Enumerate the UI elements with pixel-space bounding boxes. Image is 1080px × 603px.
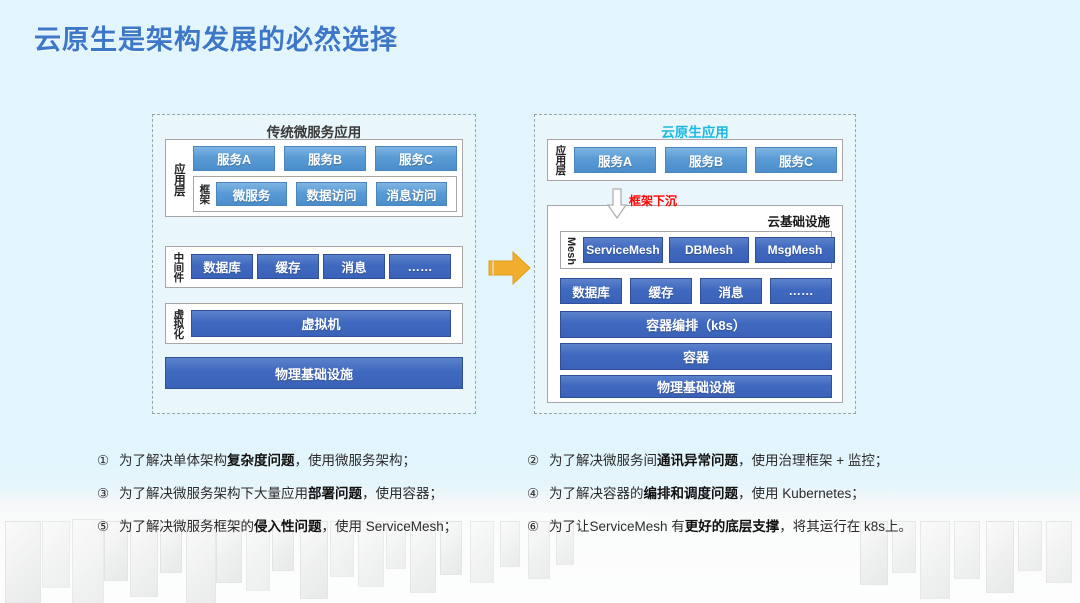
container-orchestration-chip[interactable]: 容器编排（k8s） [560,311,832,338]
list-item: ① 为了解决单体架构复杂度问题，使用微服务架构； [97,452,537,470]
right-service-a[interactable]: 服务A [574,147,656,173]
left-middleware-database[interactable]: 数据库 [191,254,253,279]
service-mesh-chip[interactable]: ServiceMesh [583,237,663,263]
list-item: ② 为了解决微服务间通讯异常问题，使用治理框架 + 监控； [527,452,987,470]
bullet-number: ③ [97,485,119,503]
list-item: ⑤ 为了解决微服务框架的侵入性问题，使用 ServiceMesh； [97,518,537,536]
right-app-layer-group: 应用层 服务A 服务B 服务C [547,139,843,181]
framework-sink-arrow-icon [606,188,628,220]
bullet-column-left: ① 为了解决单体架构复杂度问题，使用微服务架构； ③ 为了解决微服务架构下大量应… [97,452,537,552]
cloud-native-architecture-panel: 云原生应用 应用层 服务A 服务B 服务C 云基础设施 Mesh Service… [534,114,856,414]
list-item: ③ 为了解决微服务架构下大量应用部署问题，使用容器； [97,485,537,503]
background-cube [1018,521,1042,571]
list-item: ⑥ 为了让ServiceMesh 有更好的底层支撑，将其运行在 k8s上。 [527,518,987,536]
framework-sink-label: 框架下沉 [629,192,677,209]
right-middleware-database[interactable]: 数据库 [560,278,622,304]
db-mesh-chip[interactable]: DBMesh [669,237,749,263]
right-panel-title: 云原生应用 [535,121,855,141]
right-service-c[interactable]: 服务C [755,147,837,173]
left-middleware-group: 中间件 数据库 缓存 消息 …… [165,246,463,288]
right-middleware-more[interactable]: …… [770,278,832,304]
background-cube [42,521,70,588]
bullet-number: ⑥ [527,518,549,536]
mesh-group: Mesh ServiceMesh DBMesh MsgMesh [560,231,832,269]
left-framework-label: 框架 [197,180,211,208]
right-middleware-message[interactable]: 消息 [700,278,762,304]
mesh-label: Mesh [564,236,578,266]
bullet-text: 为了解决微服务间通讯异常问题，使用治理框架 + 监控； [549,452,888,470]
left-framework-data-access[interactable]: 数据访问 [296,182,367,206]
bullet-text: 为了解决微服务架构下大量应用部署问题，使用容器； [119,485,443,503]
left-middleware-cache[interactable]: 缓存 [257,254,319,279]
left-physical-infrastructure[interactable]: 物理基础设施 [165,357,463,389]
bullet-number: ⑤ [97,518,119,536]
traditional-architecture-panel: 传统微服务应用 应用层 服务A 服务B 服务C 框架 微服务 数据访问 消息访问… [152,114,476,414]
right-physical-infrastructure[interactable]: 物理基础设施 [560,375,832,398]
cloud-infrastructure-title: 云基础设施 [767,211,830,230]
left-panel-title: 传统微服务应用 [153,121,475,141]
msg-mesh-chip[interactable]: MsgMesh [755,237,835,263]
background-cube [5,521,41,603]
left-framework-group: 框架 微服务 数据访问 消息访问 [193,176,457,212]
background-cube [986,521,1014,593]
left-service-c[interactable]: 服务C [375,146,457,171]
left-virtualization-label: 虚拟化 [170,307,186,340]
background-cube [1046,521,1072,583]
flow-arrow-icon [487,249,532,287]
bullet-number: ① [97,452,119,470]
page-title: 云原生是架构发展的必然选择 [34,18,398,57]
left-app-layer-group: 应用层 服务A 服务B 服务C 框架 微服务 数据访问 消息访问 [165,139,463,217]
bullet-text: 为了解决微服务框架的侵入性问题，使用 ServiceMesh； [119,518,457,536]
left-virtualization-group: 虚拟化 虚拟机 [165,303,463,344]
bullet-column-right: ② 为了解决微服务间通讯异常问题，使用治理框架 + 监控； ④ 为了解决容器的编… [527,452,987,552]
bullet-text: 为了解决单体架构复杂度问题，使用微服务架构； [119,452,416,470]
cloud-infrastructure-group: 云基础设施 Mesh ServiceMesh DBMesh MsgMesh 数据… [547,205,843,403]
container-chip[interactable]: 容器 [560,343,832,370]
bullet-number: ② [527,452,549,470]
left-virtual-machine[interactable]: 虚拟机 [191,310,451,337]
bullet-text: 为了让ServiceMesh 有更好的底层支撑，将其运行在 k8s上。 [549,518,912,536]
bullet-number: ④ [527,485,549,503]
left-app-layer-label: 应用层 [170,146,186,212]
list-item: ④ 为了解决容器的编排和调度问题，使用 Kubernetes； [527,485,987,503]
left-framework-microservice[interactable]: 微服务 [216,182,287,206]
left-middleware-message[interactable]: 消息 [323,254,385,279]
left-middleware-label: 中间件 [170,250,186,284]
right-service-b[interactable]: 服务B [665,147,747,173]
right-app-layer-label: 应用层 [552,143,568,177]
right-middleware-cache[interactable]: 缓存 [630,278,692,304]
left-service-a[interactable]: 服务A [193,146,275,171]
flow-arrow [487,249,532,287]
left-service-b[interactable]: 服务B [284,146,366,171]
left-middleware-more[interactable]: …… [389,254,451,279]
bullet-text: 为了解决容器的编排和调度问题，使用 Kubernetes； [549,485,865,503]
left-framework-message-access[interactable]: 消息访问 [376,182,447,206]
